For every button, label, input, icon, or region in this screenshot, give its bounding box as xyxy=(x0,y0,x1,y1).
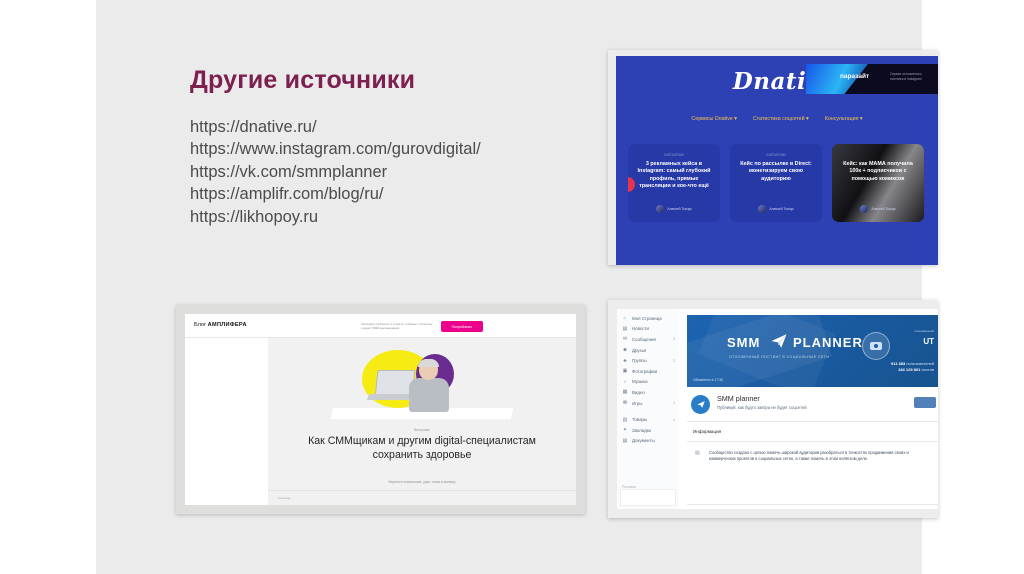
group-name: SMM planner xyxy=(717,394,760,403)
home-icon: ⌂ xyxy=(622,315,628,321)
camera-badge[interactable] xyxy=(862,332,890,360)
group-avatar[interactable] xyxy=(691,395,710,414)
sidebar-item-label: Группы xyxy=(632,358,647,363)
slide-canvas: Другие источники https://dnative.ru/ htt… xyxy=(96,0,922,574)
source-link[interactable]: https://www.instagram.com/gurovdigital/ xyxy=(190,138,481,160)
dnative-nav: Сервисы Dnative ▾ Статистика соцсетей ▾ … xyxy=(616,116,938,122)
article-hero-illustration xyxy=(290,344,554,422)
source-link[interactable]: https://dnative.ru/ xyxy=(190,116,481,138)
info-text: Сообщество создано с целью помочь широко… xyxy=(709,450,934,462)
banner-updated: Обновлено в 17:30 xyxy=(693,378,723,382)
video-icon: ▦ xyxy=(622,389,628,395)
banner-brand: паразайт xyxy=(840,73,869,80)
page-title: Другие источники xyxy=(190,66,415,95)
amplifr-page: Блог АМПЛИФЕРА Амплифер публикует в соцс… xyxy=(185,314,576,505)
article-headline: Кейс по рассылке в Direct: монетизируем … xyxy=(736,161,816,183)
group-cover-banner: SMM PLANNER ОТЛОЖЕННЫЙ ПОСТИНГ В СОЦИАЛЬ… xyxy=(687,315,938,387)
article-headline: Как СММщикам и другим digital-специалист… xyxy=(294,434,550,462)
document-icon: ▤ xyxy=(622,438,628,444)
article-kicker: INSTAGRAM xyxy=(730,153,822,157)
sidebar-item-label: Друзья xyxy=(632,348,646,353)
sidebar-item-video[interactable]: ▦ Видео xyxy=(617,387,679,398)
sidebar-item-label: Товары xyxy=(632,417,647,422)
stat-value: 911 683 xyxy=(891,361,905,366)
source-link[interactable]: https://likhopoy.ru xyxy=(190,206,481,228)
article-headline: Кейс: как МАМА получила 100к + подписчик… xyxy=(838,161,918,183)
sidebar-item-friends[interactable]: ☻ Друзья xyxy=(617,345,679,356)
article-author: Алексей Ткачук xyxy=(832,205,924,213)
person-torso xyxy=(409,378,449,412)
person-hair xyxy=(418,359,439,367)
article-kicker: INSTAGRAM xyxy=(628,153,720,157)
avatar xyxy=(656,205,664,213)
article-author: Алексей Ткачук xyxy=(628,205,720,213)
avatar xyxy=(860,205,868,213)
author-name: Алексей Ткачук xyxy=(871,207,895,211)
nav-item-statistics[interactable]: Статистика соцсетей ▾ xyxy=(753,116,809,122)
paper-plane-icon xyxy=(696,400,706,409)
try-button[interactable]: Попробовать xyxy=(441,321,483,332)
group-header-row: SMM planner Публикуй, как будто завтра н… xyxy=(687,393,938,419)
sidebar-badge: 3 xyxy=(673,337,675,341)
banner-user-label: UT xyxy=(923,337,934,346)
article-card[interactable]: INSTAGRAM 3 рекламных кейса в Instagram:… xyxy=(628,144,720,222)
sidebar-badge: 1 xyxy=(673,401,675,405)
try-button-label: Попробовать xyxy=(441,321,483,332)
article-headline: 3 рекламных кейса в Instagram: самый глу… xyxy=(634,161,714,191)
sidebar-item-games[interactable]: ⛃ Игры 1 xyxy=(617,398,679,409)
content-divider xyxy=(687,421,938,422)
article-card[interactable]: Кейс: как МАМА получила 100к + подписчик… xyxy=(832,144,924,222)
sidebar-item-photos[interactable]: ▣ Фотографии xyxy=(617,366,679,377)
sidebar-item-bookmarks[interactable]: ✦ Закладки xyxy=(617,425,679,436)
banner-title-left: SMM xyxy=(727,335,760,350)
sidebar-item-goods[interactable]: ▥ Товары 1 xyxy=(617,414,679,425)
sidebar-item-label: Документы xyxy=(632,438,655,443)
article-card[interactable]: INSTAGRAM Кейс по рассылке в Direct: мон… xyxy=(730,144,822,222)
source-link[interactable]: https://vk.com/smmplanner xyxy=(190,161,481,183)
paper-plane-icon xyxy=(769,332,789,350)
amplifr-article: Выгорание Как СММщикам и другим digital-… xyxy=(268,338,576,505)
stat-label: постов xyxy=(921,367,934,372)
dnative-article-cards: INSTAGRAM 3 рекламных кейса в Instagram:… xyxy=(628,144,924,222)
logo-name: АМПЛИФЕРА xyxy=(208,322,247,328)
logo-prefix: Блог xyxy=(194,322,206,328)
sidebar-item-label: Игры xyxy=(632,401,642,406)
screenshot-amplifr-blog: Блог АМПЛИФЕРА Амплифер публикует в соцс… xyxy=(176,305,585,514)
ads-placeholder[interactable] xyxy=(620,489,676,506)
amplifr-promo-text: Амплифер публикует в соцсети, собирает с… xyxy=(361,322,433,331)
vk-page: ⌂ Моя Страница ▤ Новости ✉ Сообщения 3 ☻… xyxy=(617,309,938,509)
dnative-page: Dnative паразайт Сервис отложенного пост… xyxy=(616,56,938,265)
article-subtitle: Берегите психологию, руки, глаза и психи… xyxy=(268,480,576,484)
source-links-list: https://dnative.ru/ https://www.instagra… xyxy=(190,116,481,228)
article-author: Алексей Ткачук xyxy=(730,205,822,213)
sidebar-item-documents[interactable]: ▤ Документы xyxy=(617,436,679,447)
news-icon: ▤ xyxy=(622,326,628,332)
source-link[interactable]: https://amplifr.com/blog/ru/ xyxy=(190,183,481,205)
author-name: Алексей Ткачук xyxy=(769,207,793,211)
sidebar-item-label: Музыка xyxy=(632,379,648,384)
bookmark-icon: ✦ xyxy=(622,427,628,433)
banner-stats: 911 683 пользователей 184 129 801 постов xyxy=(891,361,934,373)
vk-sidebar: ⌂ Моя Страница ▤ Новости ✉ Сообщения 3 ☻… xyxy=(617,309,680,509)
sidebar-badge: 2 xyxy=(673,359,675,363)
person-figure xyxy=(408,360,450,412)
stat-label: пользователей xyxy=(906,361,934,366)
avatar xyxy=(758,205,766,213)
sidebar-item-label: Закладки xyxy=(632,428,651,433)
sidebar-item-label: Моя Страница xyxy=(632,316,662,321)
banner-user-caption: пользователей xyxy=(915,329,934,333)
screenshot-vk-smmplanner: ⌂ Моя Страница ▤ Новости ✉ Сообщения 3 ☻… xyxy=(608,300,938,518)
info-icon: ▤ xyxy=(695,450,701,456)
stat-value: 184 129 801 xyxy=(898,367,920,372)
nav-item-consulting[interactable]: Консультация ▾ xyxy=(825,116,863,122)
camera-icon xyxy=(870,342,882,350)
author-name: Алексей Ткачук xyxy=(667,207,691,211)
info-box: ▤ Сообщество создано с целью помочь широ… xyxy=(687,441,938,505)
goods-icon: ▥ xyxy=(622,417,628,423)
nav-item-services[interactable]: Сервисы Dnative ▾ xyxy=(691,116,737,122)
friends-icon: ☻ xyxy=(622,347,628,353)
sidebar-badge: 1 xyxy=(673,418,675,422)
message-icon: ✉ xyxy=(622,336,628,342)
groups-icon: ♣ xyxy=(622,358,628,364)
sidebar-item-messages[interactable]: ✉ Сообщения 3 xyxy=(617,334,679,345)
music-icon: ♪ xyxy=(622,379,628,385)
sidebar-item-label: Сообщения xyxy=(632,337,656,342)
article-kicker: Выгорание xyxy=(268,428,576,432)
banner-tagline: Сервис отложенного постинга в Instagram xyxy=(890,72,934,82)
banner-title-right: PLANNER xyxy=(793,335,863,350)
screenshot-dnative: Dnative паразайт Сервис отложенного пост… xyxy=(608,50,938,265)
vk-main-content: SMM PLANNER ОТЛОЖЕННЫЙ ПОСТИНГ В СОЦИАЛЬ… xyxy=(679,309,938,509)
amplifr-logo: Блог АМПЛИФЕРА xyxy=(194,322,247,328)
parasite-ad-banner[interactable]: паразайт Сервис отложенного постинга в I… xyxy=(806,64,938,94)
sidebar-item-my-page[interactable]: ⌂ Моя Страница xyxy=(617,313,679,324)
article-footer: Команда xyxy=(278,496,290,500)
sidebar-item-label: Фотографии xyxy=(632,369,657,374)
banner-subtitle: ОТЛОЖЕННЫЙ ПОСТИНГ В СОЦИАЛЬНЫЕ СЕТИ xyxy=(729,355,829,359)
sidebar-item-music[interactable]: ♪ Музыка xyxy=(617,377,679,388)
subscribe-button[interactable] xyxy=(914,397,936,408)
sidebar-item-news[interactable]: ▤ Новости xyxy=(617,324,679,335)
sidebar-item-label: Новости xyxy=(632,326,649,331)
group-slogan: Публикуй, как будто завтра не будет соцс… xyxy=(717,405,807,410)
photo-icon: ▣ xyxy=(622,368,628,374)
sidebar-item-label: Видео xyxy=(632,390,645,395)
footer-divider xyxy=(268,490,576,491)
info-heading: Информация xyxy=(693,429,721,434)
sidebar-item-groups[interactable]: ♣ Группы 2 xyxy=(617,355,679,366)
games-icon: ⛃ xyxy=(622,400,628,406)
